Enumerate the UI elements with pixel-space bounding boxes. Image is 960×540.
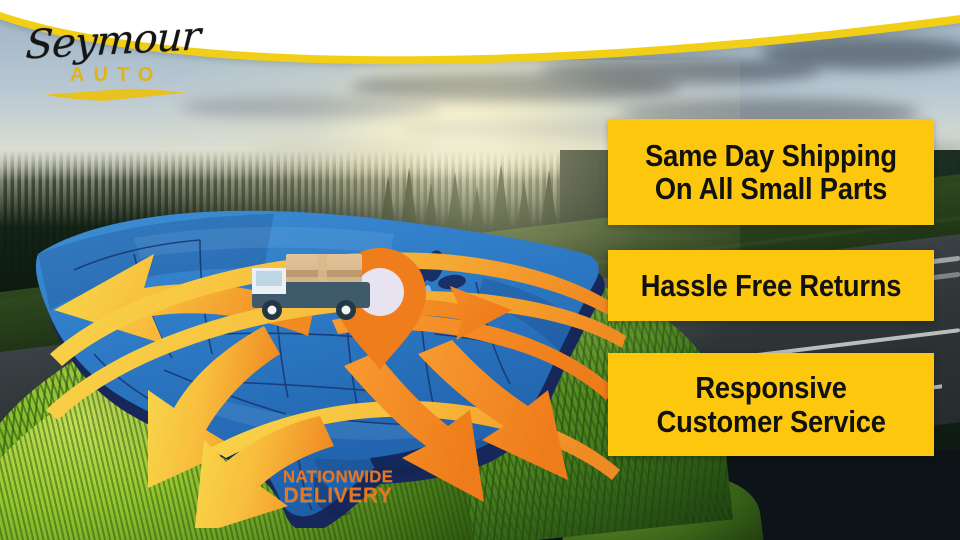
nd-line-1: NATIONWIDE [268,468,408,485]
banner-1-line-1: Same Day Shipping [645,139,897,172]
banner-same-day-shipping[interactable]: Same Day Shipping On All Small Parts [608,119,934,225]
banner-responsive-customer-service[interactable]: Responsive Customer Service [608,353,934,456]
banner-hassle-free-returns[interactable]: Hassle Free Returns [608,250,934,321]
banner-2-line-1: Hassle Free Returns [641,269,901,302]
nationwide-delivery-label: NATIONWIDE DELIVERY [268,468,408,507]
promo-banner-canvas: Seymour AUTO [0,0,960,540]
brand-subtitle: AUTO [70,64,162,87]
usa-delivery-map: NATIONWIDE DELIVERY [14,158,634,528]
banner-3-line-2: Customer Service [656,405,885,438]
banner-3-line-1: Responsive [695,371,846,404]
nd-line-2: DELIVERY [268,485,408,506]
brand-name: Seymour [24,13,201,68]
banner-1-line-2: On All Small Parts [655,172,887,205]
brand-logo[interactable]: Seymour AUTO [18,16,238,102]
